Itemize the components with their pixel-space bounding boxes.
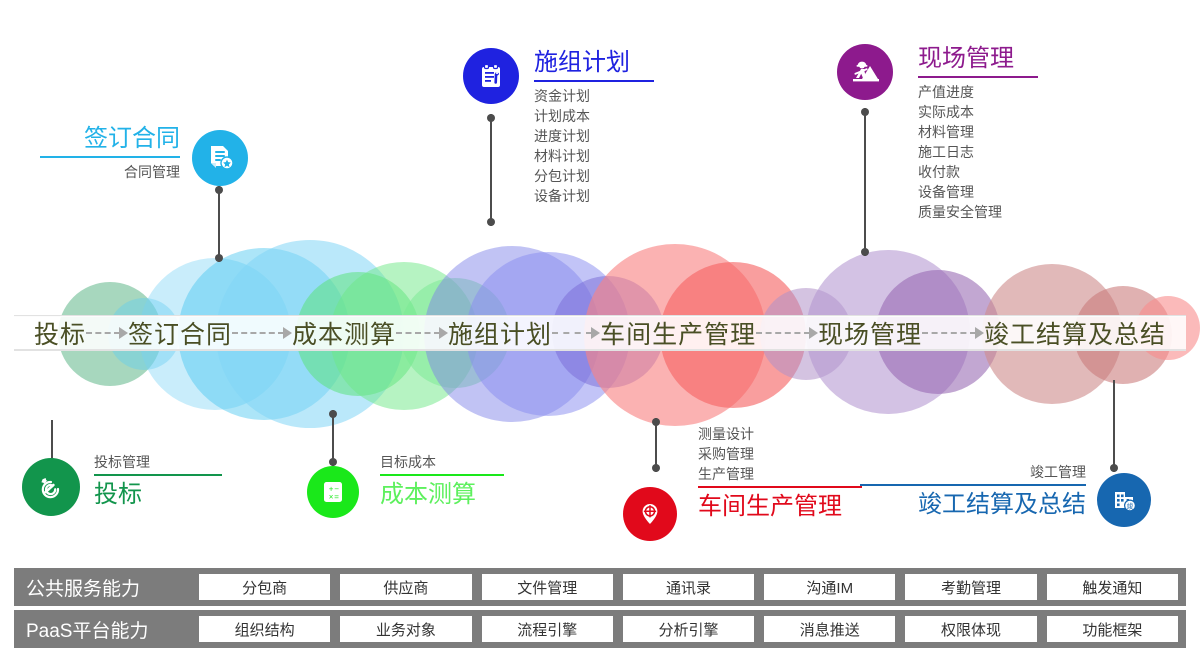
callout-title: 竣工结算及总结	[860, 490, 1086, 520]
capability-row-public-service: 公共服务能力 分包商 供应商 文件管理 通讯录 沟通IM 考勤管理 触发通知	[14, 568, 1186, 606]
callout-site-management: 现场管理 产值进度 实际成本 材料管理 施工日志 收付款 设备管理 质量安全管理	[918, 44, 1068, 222]
connector-completion-settlement	[1110, 380, 1118, 472]
capability-cells: 分包商 供应商 文件管理 通讯录 沟通IM 考勤管理 触发通知	[199, 574, 1186, 600]
capability-row-paas-platform: PaaS平台能力 组织结构 业务对象 流程引擎 分析引擎 消息推送 权限体现 功…	[14, 610, 1186, 648]
callout-rule	[860, 484, 1086, 486]
callout-rule	[40, 156, 180, 158]
timeline-step-workshop-production[interactable]: 车间生产管理	[600, 315, 756, 351]
contract-document-icon	[205, 143, 235, 173]
callout-item: 计划成本	[534, 106, 674, 126]
capability-cell[interactable]: 考勤管理	[905, 574, 1036, 600]
callout-item: 资金计划	[534, 86, 674, 106]
timeline-step-sign-contract[interactable]: 签订合同	[128, 315, 232, 351]
connector-construction-plan	[487, 114, 495, 226]
timeline-step-bidding[interactable]: 投标	[34, 315, 86, 351]
connector-sign-contract	[215, 186, 223, 262]
svg-text:=: =	[334, 492, 339, 501]
capability-cell[interactable]: 通讯录	[623, 574, 754, 600]
callout-cost-estimate: 目标成本 成本测算	[380, 452, 520, 510]
callout-title: 投标	[94, 480, 224, 510]
dart-target-icon	[35, 471, 67, 503]
callout-sign-contract: 签订合同 合同管理	[40, 124, 180, 182]
capability-cell[interactable]: 流程引擎	[482, 616, 613, 642]
capability-cell[interactable]: 供应商	[340, 574, 471, 600]
callout-construction-plan: 施组计划 资金计划 计划成本 进度计划 材料计划 分包计划 设备计划	[534, 48, 674, 206]
capability-cell[interactable]: 组织结构	[199, 616, 330, 642]
flow-arrow-icon	[232, 327, 292, 339]
icon-sign-contract[interactable]	[192, 130, 248, 186]
callout-item: 测量设计	[698, 424, 878, 444]
callout-item: 采购管理	[698, 444, 878, 464]
callout-completion-settlement: 竣工管理 竣工结算及总结	[860, 462, 1086, 520]
callout-title: 现场管理	[918, 44, 1068, 74]
callout-title: 施组计划	[534, 48, 674, 78]
callout-item: 投标管理	[94, 452, 224, 472]
capability-row-label: PaaS平台能力	[14, 616, 199, 643]
construction-worker-icon	[849, 56, 881, 88]
timeline-step-cost-estimate[interactable]: 成本测算	[292, 315, 396, 351]
callout-workshop-production: 测量设计 采购管理 生产管理 车间生产管理	[698, 424, 878, 522]
capability-cell[interactable]: 消息推送	[764, 616, 895, 642]
flow-arrow-icon	[396, 327, 448, 339]
callout-item: 分包计划	[534, 166, 674, 186]
callout-item: 目标成本	[380, 452, 520, 472]
callout-item: 施工日志	[918, 142, 1068, 162]
callout-item: 竣工管理	[860, 462, 1086, 482]
flow-arrow-icon	[922, 327, 984, 339]
connector-workshop-production	[652, 418, 660, 472]
callout-title: 成本测算	[380, 480, 520, 510]
calculator-icon: + − × =	[320, 479, 346, 505]
capability-cell[interactable]: 文件管理	[482, 574, 613, 600]
capability-cells: 组织结构 业务对象 流程引擎 分析引擎 消息推送 权限体现 功能框架	[199, 616, 1186, 642]
callout-item: 材料计划	[534, 146, 674, 166]
connector-cost-estimate	[329, 410, 337, 466]
timeline-step-construction-plan[interactable]: 施组计划	[448, 315, 552, 351]
capability-cell[interactable]: 触发通知	[1047, 574, 1178, 600]
icon-completion-settlement[interactable]: 竣	[1097, 473, 1151, 527]
callout-item: 材料管理	[918, 122, 1068, 142]
icon-construction-plan[interactable]	[463, 48, 519, 104]
timeline-step-completion-settlement[interactable]: 竣工结算及总结	[984, 315, 1166, 351]
callout-title: 车间生产管理	[698, 492, 878, 522]
icon-bidding[interactable]	[22, 458, 80, 516]
callout-item: 设备计划	[534, 186, 674, 206]
capability-cell[interactable]: 沟通IM	[764, 574, 895, 600]
callout-item: 质量安全管理	[918, 202, 1068, 222]
icon-workshop-production[interactable]	[623, 487, 677, 541]
building-badge-icon: 竣	[1109, 485, 1139, 515]
callout-item: 实际成本	[918, 102, 1068, 122]
timeline-flow: 投标 签订合同 成本测算 施组计划 车间生产管理 现场管理 竣工结算及总结	[14, 316, 1186, 350]
map-pin-crosshair-icon	[636, 500, 664, 528]
callout-rule	[94, 474, 222, 476]
callout-item: 进度计划	[534, 126, 674, 146]
capability-cell[interactable]: 分析引擎	[623, 616, 754, 642]
capability-cell[interactable]: 权限体现	[905, 616, 1036, 642]
capability-row-label: 公共服务能力	[14, 574, 199, 601]
callout-item: 合同管理	[40, 162, 180, 182]
callout-bidding: 投标管理 投标	[94, 452, 224, 510]
callout-item: 产值进度	[918, 82, 1068, 102]
capability-cell[interactable]: 功能框架	[1047, 616, 1178, 642]
icon-cost-estimate[interactable]: + − × =	[307, 466, 359, 518]
capability-cell[interactable]: 分包商	[199, 574, 330, 600]
callout-rule	[698, 486, 862, 488]
timeline-step-site-management[interactable]: 现场管理	[818, 315, 922, 351]
icon-site-management[interactable]	[837, 44, 893, 100]
infographic-canvas: 投标 签订合同 成本测算 施组计划 车间生产管理 现场管理 竣工结算及总结	[0, 0, 1200, 666]
svg-text:×: ×	[329, 492, 334, 501]
clipboard-wrench-icon	[476, 61, 506, 91]
svg-text:竣: 竣	[1127, 501, 1134, 510]
callout-item: 生产管理	[698, 464, 878, 484]
callout-item: 收付款	[918, 162, 1068, 182]
capability-cell[interactable]: 业务对象	[340, 616, 471, 642]
callout-rule	[918, 76, 1038, 78]
callout-rule	[380, 474, 504, 476]
callout-title: 签订合同	[40, 124, 180, 154]
flow-arrow-icon	[756, 327, 818, 339]
connector-site-management	[861, 108, 869, 256]
callout-rule	[534, 80, 654, 82]
flow-arrow-icon	[86, 327, 128, 339]
flow-arrow-icon	[552, 327, 600, 339]
callout-item: 设备管理	[918, 182, 1068, 202]
